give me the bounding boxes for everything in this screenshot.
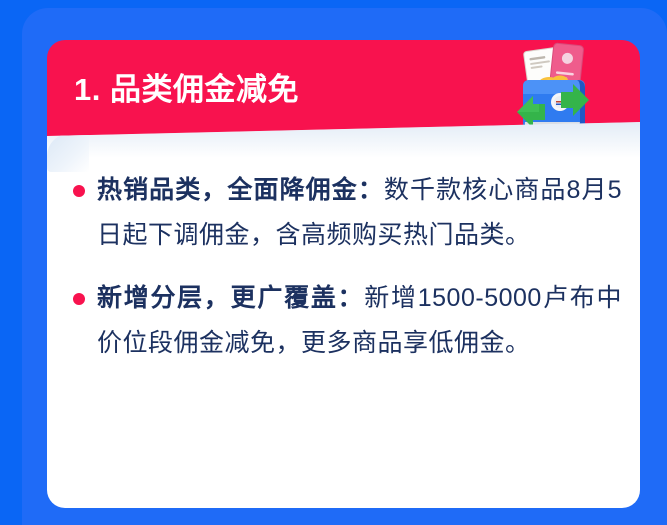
bullet-dot-icon <box>73 185 85 197</box>
bullet-lead-text: 新增分层，更广覆盖： <box>97 284 364 312</box>
page-title: 1. 品类佣金减免 <box>74 64 299 109</box>
list-item: 新增分层，更广覆盖：新增1500-5000卢布中价位段佣金减免，更多商品享低佣金… <box>61 276 622 366</box>
list-item: 热销品类，全面降佣金：数千款核心商品8月5日起下调佣金，含高频购买热门品类。 <box>61 168 622 258</box>
bullet-dot-icon <box>73 293 85 305</box>
bullet-list: 热销品类，全面降佣金：数千款核心商品8月5日起下调佣金，含高频购买热门品类。 新… <box>47 168 640 384</box>
card-body: 热销品类，全面降佣金：数千款核心商品8月5日起下调佣金，含高频购买热门品类。 新… <box>47 118 640 508</box>
peel-tab-icon <box>47 134 89 172</box>
bullet-lead-text: 热销品类，全面降佣金： <box>97 176 384 204</box>
slide-page: 1. 品类佣金减免 <box>0 0 667 525</box>
